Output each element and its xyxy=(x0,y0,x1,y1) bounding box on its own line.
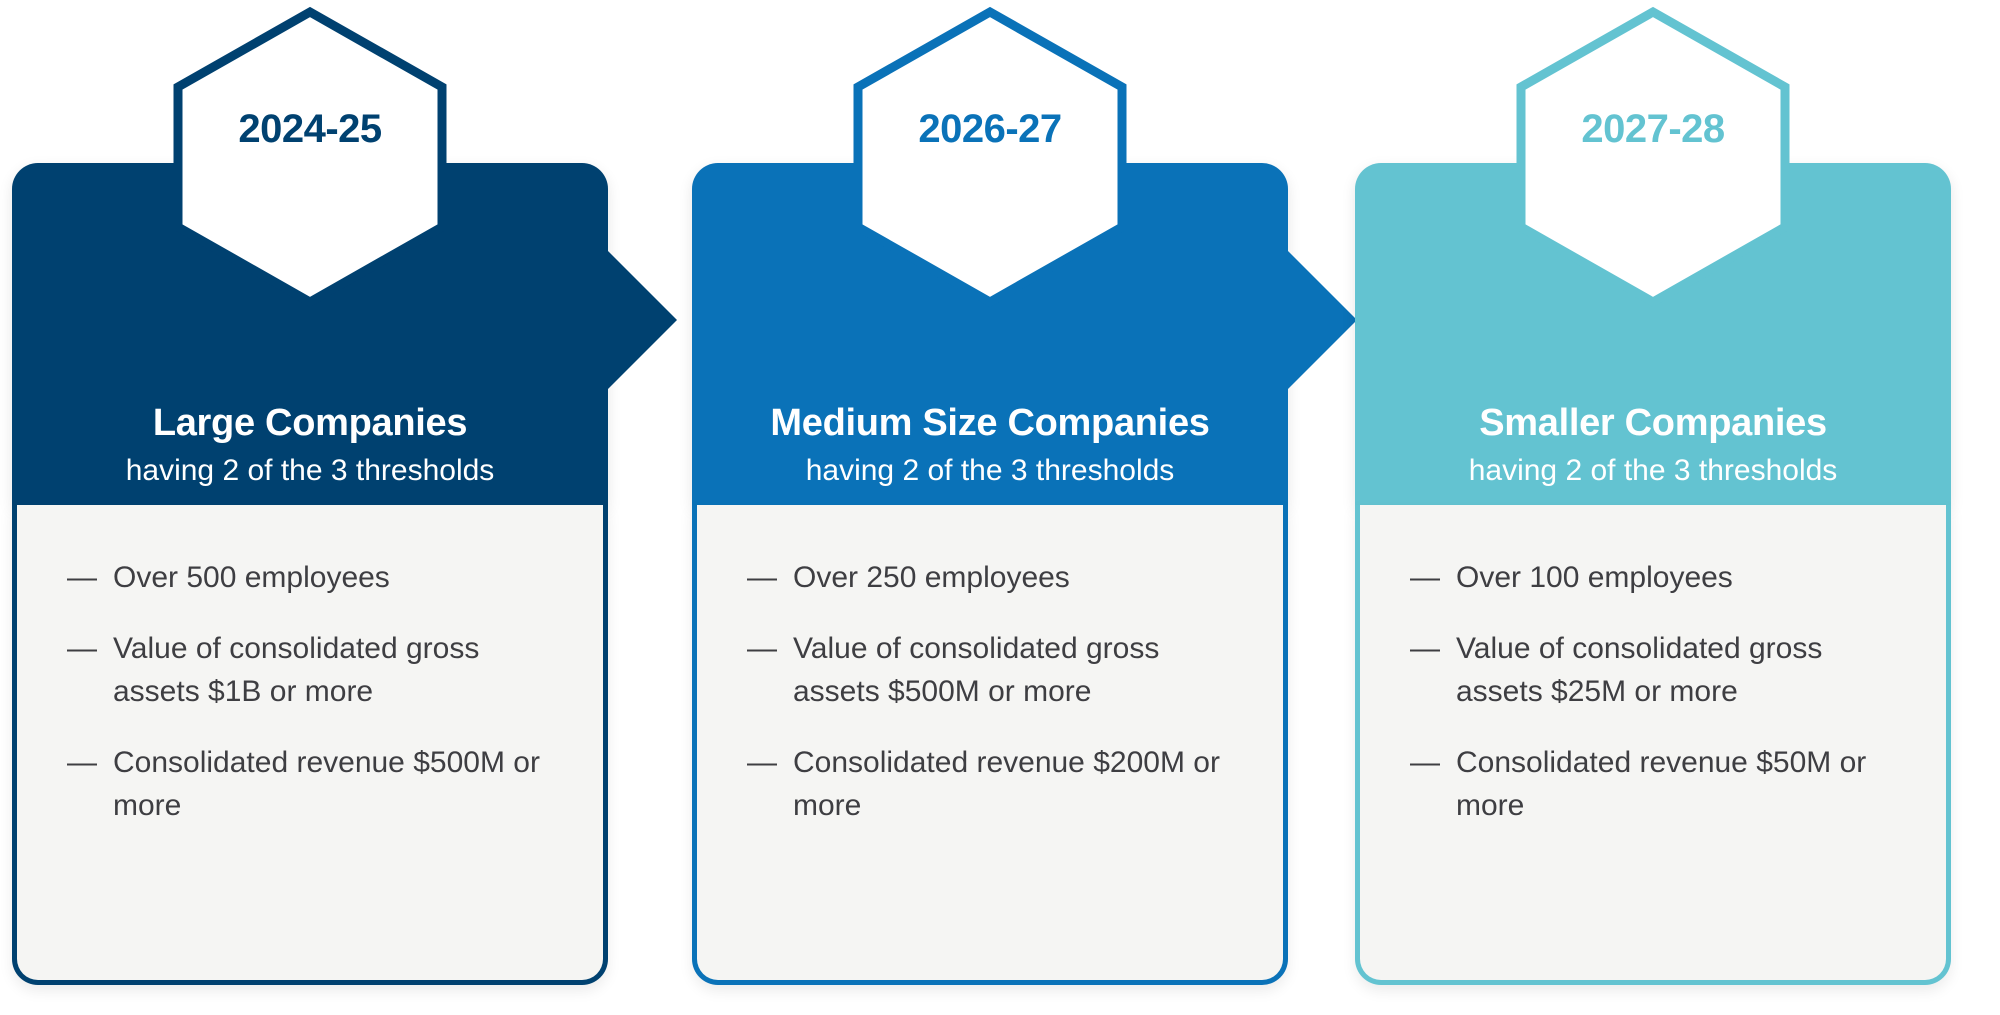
dash-icon: — xyxy=(747,628,777,671)
dash-icon: — xyxy=(747,742,777,785)
stage-1-year-label: 2024-25 xyxy=(173,107,447,152)
stage-1-header-text: Large Companies having 2 of the 3 thresh… xyxy=(12,404,608,487)
dash-icon: — xyxy=(67,628,97,671)
hexagon-icon xyxy=(853,7,1127,307)
dash-icon: — xyxy=(67,742,97,785)
stage-3-year-label: 2027-28 xyxy=(1516,107,1790,152)
stage-1-subtitle: having 2 of the 3 thresholds xyxy=(26,454,594,487)
stage-2-threshold-list: — Over 250 employees — Value of consolid… xyxy=(747,557,1243,827)
list-item: — Consolidated revenue $200M or more xyxy=(747,742,1243,828)
stage-2-body: — Over 250 employees — Value of consolid… xyxy=(692,505,1288,985)
list-item-text: Over 250 employees xyxy=(793,561,1070,594)
list-item: — Value of consolidated gross assets $1B… xyxy=(67,628,563,714)
hexagon-icon xyxy=(1516,7,1790,307)
infographic-canvas: Large Companies having 2 of the 3 thresh… xyxy=(0,0,2000,1015)
stage-2-header-text: Medium Size Companies having 2 of the 3 … xyxy=(692,404,1288,487)
stage-2-year-badge[interactable]: 2026-27 xyxy=(853,7,1127,307)
stage-card-3[interactable]: Smaller Companies having 2 of the 3 thre… xyxy=(1355,163,1951,985)
stage-3-title: Smaller Companies xyxy=(1369,404,1937,444)
list-item: — Value of consolidated gross assets $25… xyxy=(1410,628,1906,714)
stage-3-header-text: Smaller Companies having 2 of the 3 thre… xyxy=(1355,404,1951,487)
list-item-text: Over 500 employees xyxy=(113,561,390,594)
dash-icon: — xyxy=(1410,742,1440,785)
list-item-text: Consolidated revenue $200M or more xyxy=(793,746,1220,822)
stage-1-title: Large Companies xyxy=(26,404,594,444)
stage-1-year-badge[interactable]: 2024-25 xyxy=(173,7,447,307)
list-item-text: Over 100 employees xyxy=(1456,561,1733,594)
dash-icon: — xyxy=(1410,628,1440,671)
stage-card-1[interactable]: Large Companies having 2 of the 3 thresh… xyxy=(12,163,608,985)
stage-3-year-badge[interactable]: 2027-28 xyxy=(1516,7,1790,307)
stage-2-title: Medium Size Companies xyxy=(706,404,1274,444)
list-item-text: Value of consolidated gross assets $1B o… xyxy=(113,632,479,708)
stage-card-2[interactable]: Medium Size Companies having 2 of the 3 … xyxy=(692,163,1288,985)
list-item-text: Value of consolidated gross assets $500M… xyxy=(793,632,1159,708)
list-item: — Consolidated revenue $50M or more xyxy=(1410,742,1906,828)
list-item: — Consolidated revenue $500M or more xyxy=(67,742,563,828)
stage-2-subtitle: having 2 of the 3 thresholds xyxy=(706,454,1274,487)
stage-1-body: — Over 500 employees — Value of consolid… xyxy=(12,505,608,985)
list-item: — Over 500 employees xyxy=(67,557,563,600)
list-item-text: Consolidated revenue $50M or more xyxy=(1456,746,1866,822)
stage-2-arrow-icon xyxy=(1287,250,1357,390)
dash-icon: — xyxy=(1410,557,1440,600)
list-item-text: Consolidated revenue $500M or more xyxy=(113,746,540,822)
list-item: — Over 100 employees xyxy=(1410,557,1906,600)
list-item-text: Value of consolidated gross assets $25M … xyxy=(1456,632,1822,708)
stage-3-body: — Over 100 employees — Value of consolid… xyxy=(1355,505,1951,985)
dash-icon: — xyxy=(67,557,97,600)
stage-3-threshold-list: — Over 100 employees — Value of consolid… xyxy=(1410,557,1906,827)
list-item: — Value of consolidated gross assets $50… xyxy=(747,628,1243,714)
stage-1-threshold-list: — Over 500 employees — Value of consolid… xyxy=(67,557,563,827)
stage-2-year-label: 2026-27 xyxy=(853,107,1127,152)
stage-3-subtitle: having 2 of the 3 thresholds xyxy=(1369,454,1937,487)
dash-icon: — xyxy=(747,557,777,600)
stage-1-arrow-icon xyxy=(607,250,677,390)
list-item: — Over 250 employees xyxy=(747,557,1243,600)
hexagon-icon xyxy=(173,7,447,307)
